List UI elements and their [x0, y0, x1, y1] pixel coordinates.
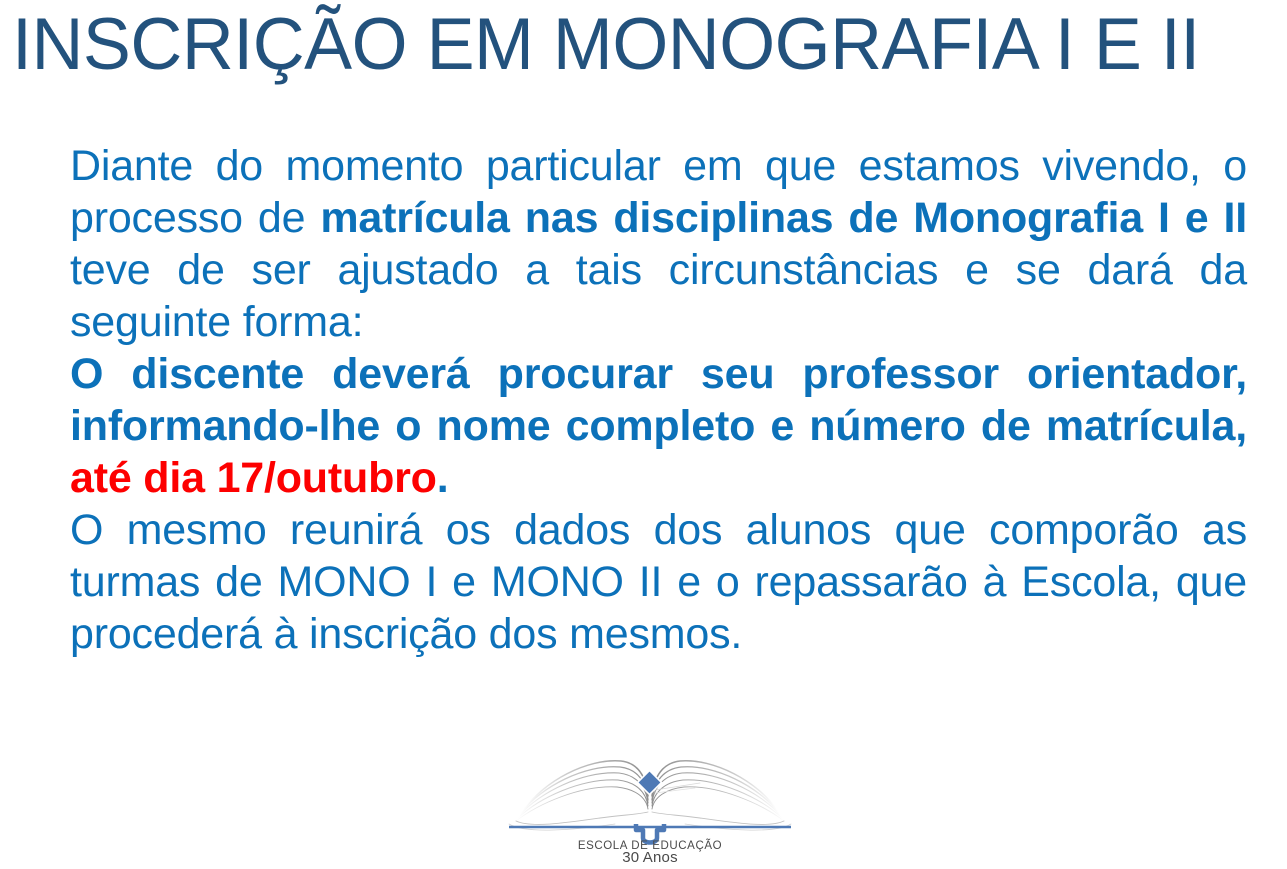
run-p1-bold: matrícula nas disciplinas de Monografia …	[320, 194, 1247, 242]
paragraph-3: O mesmo reunirá os dados dos alunos que …	[70, 504, 1247, 660]
run-p2-period: .	[437, 454, 449, 502]
body-text-block: Diante do momento particular em que esta…	[70, 140, 1247, 660]
run-p2-a: O discente deverá procurar seu professor…	[70, 350, 1247, 450]
page-title: INSCRIÇÃO EM MONOGRAFIA I E II	[12, 6, 1253, 85]
paragraph-1: Diante do momento particular em que esta…	[70, 140, 1247, 348]
logo-line-2: 30 Anos	[622, 849, 678, 864]
slide-canvas: INSCRIÇÃO EM MONOGRAFIA I E II Diante do…	[0, 0, 1287, 869]
run-p1-c: teve de ser ajustado a tais circunstânci…	[70, 246, 1247, 346]
deadline-highlight: até dia 17/outubro	[70, 454, 437, 502]
run-p3-a: O mesmo reunirá os dados dos alunos que …	[70, 506, 1247, 658]
escola-de-educacao-logo: ESCOLA DE EDUCAÇÃO 30 Anos	[495, 752, 805, 864]
paragraph-2: O discente deverá procurar seu professor…	[70, 348, 1247, 504]
